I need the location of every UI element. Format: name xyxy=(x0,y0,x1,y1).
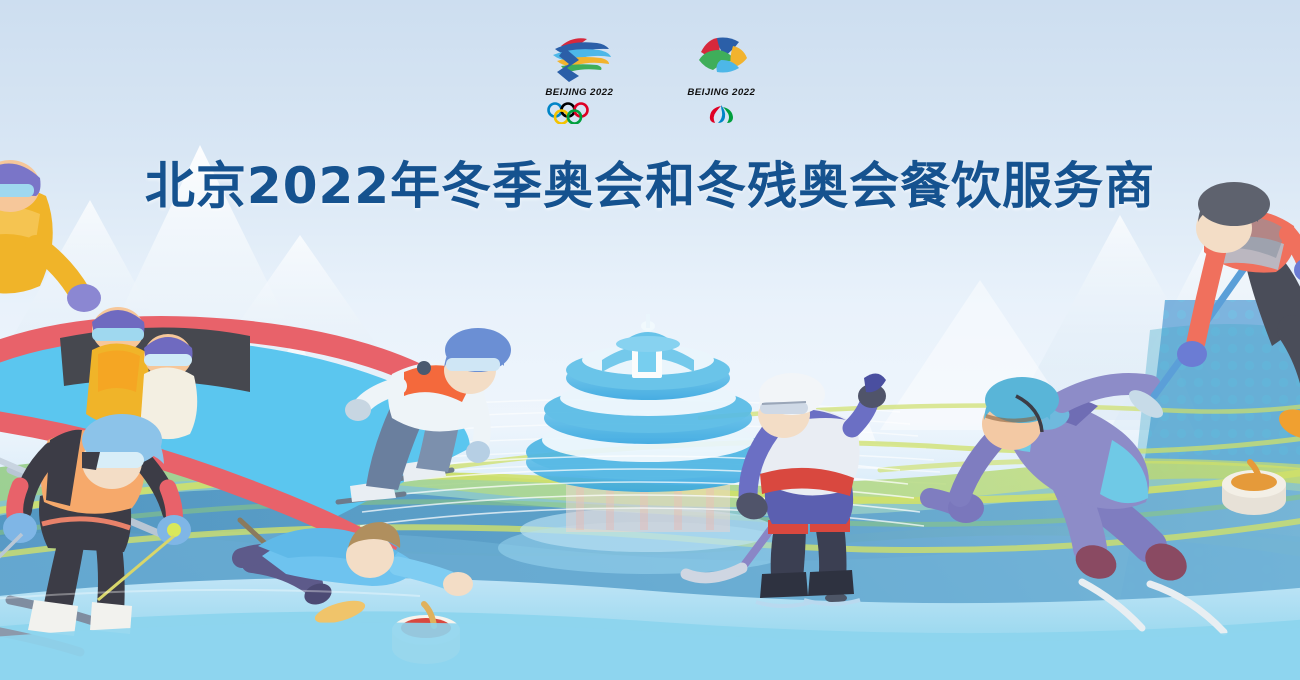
winter-sports-illustration xyxy=(0,0,1300,680)
olympic-banner: BEIJING 2022 BEIJING 2022 xyxy=(0,0,1300,680)
